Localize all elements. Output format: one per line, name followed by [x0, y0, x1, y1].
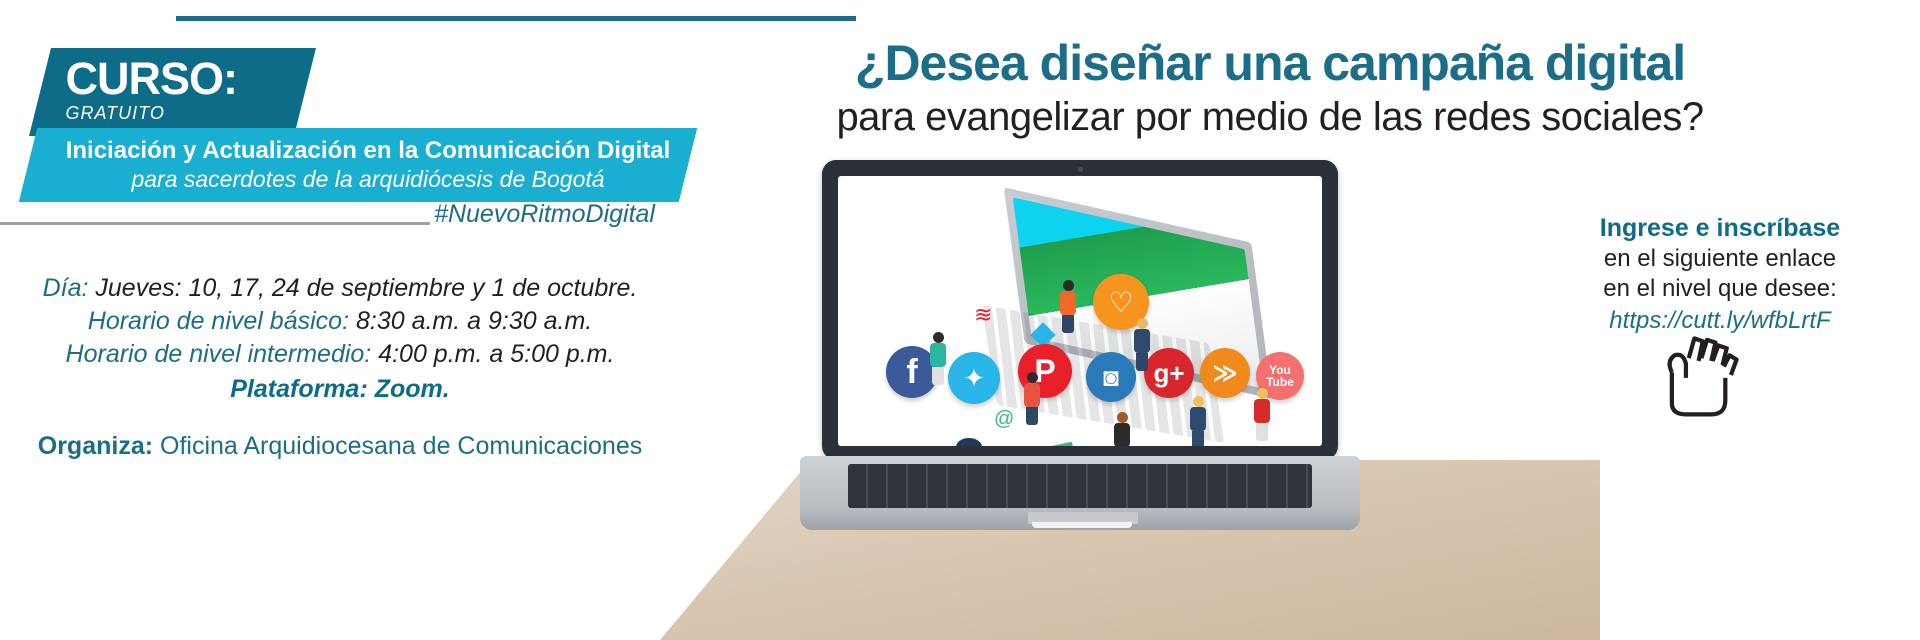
schedule-basic-line: Horario de nivel básico: 8:30 a.m. a 9:3…	[30, 305, 650, 338]
cta-line2: en el siguiente enlace	[1540, 244, 1900, 274]
schedule-platform: Plataforma: Zoom.	[30, 371, 650, 407]
registration-cta-block: Ingrese e inscríbase en el siguiente enl…	[1540, 212, 1900, 338]
laptop-notch	[1032, 522, 1132, 528]
person-figure	[1254, 388, 1270, 441]
headline-line2: para evangelizar por medio de las redes …	[700, 92, 1840, 142]
laptop-screen: ≋ @ ♡ f ✦ P ◙ g+ ≫ YouTube	[838, 176, 1322, 446]
schedule-intermediate-line: Horario de nivel intermedio: 4:00 p.m. a…	[30, 338, 650, 371]
course-title-line1: Iniciación y Actualización en la Comunic…	[66, 137, 671, 165]
curso-title: CURSO:	[65, 54, 306, 104]
schedule-intermediate-value: 4:00 p.m. a 5:00 p.m.	[378, 340, 614, 368]
laptop-keyboard	[848, 464, 1312, 508]
organizer-line: Organiza: Oficina Arquidiocesana de Comu…	[30, 430, 650, 462]
person-figure	[1190, 396, 1206, 446]
schedule-basic-value: 8:30 a.m. a 9:30 a.m.	[356, 307, 592, 335]
schedule-day-line: Día: Jueves: 10, 17, 24 de septiembre y …	[30, 272, 650, 305]
wifi-icon: ≋	[974, 302, 992, 328]
at-sign-icon: @	[994, 408, 1014, 431]
laptop-base	[800, 456, 1360, 530]
cta-line1: Ingrese e inscríbase	[1540, 212, 1900, 244]
laptop-lid: ≋ @ ♡ f ✦ P ◙ g+ ≫ YouTube	[822, 160, 1338, 460]
course-title-text: Iniciación y Actualización en la Comunic…	[28, 128, 708, 202]
schedule-intermediate-label: Horario de nivel intermedio:	[66, 340, 372, 368]
schedule-day-label: Día:	[43, 274, 89, 302]
googleplus-icon: g+	[1144, 348, 1194, 398]
isometric-scene: ≋ @ ♡ f ✦ P ◙ g+ ≫ YouTube	[838, 176, 1322, 446]
organizer-value: Oficina Arquidiocesana de Comunicaciones	[160, 432, 642, 460]
twitter-icon: ✦	[948, 352, 1000, 404]
curso-badge: CURSO: GRATUITO	[29, 48, 316, 136]
hashtag-label: #NuevoRitmoDigital	[430, 200, 655, 229]
curso-subtitle: GRATUITO	[65, 102, 306, 124]
person-figure	[1134, 318, 1150, 371]
headline-line1: ¿Desea diseñar una campaña digital	[700, 34, 1840, 92]
cloud-icon	[956, 438, 982, 446]
webcam-icon	[1078, 167, 1083, 172]
schedule-basic-label: Horario de nivel básico:	[88, 307, 349, 335]
schedule-block: Día: Jueves: 10, 17, 24 de septiembre y …	[30, 272, 650, 407]
cta-line3: en el nivel que desee:	[1540, 274, 1900, 304]
course-title-line2: para sacerdotes de la arquidiócesis de B…	[131, 165, 604, 193]
note-icon	[1048, 442, 1075, 446]
rss-icon: ≫	[1200, 348, 1250, 398]
person-figure	[1060, 280, 1076, 333]
schedule-day-value: Jueves: 10, 17, 24 de septiembre y 1 de …	[95, 274, 637, 302]
hashtag-divider-rule	[0, 222, 430, 225]
person-figure	[1114, 412, 1130, 446]
headline-block: ¿Desea diseñar una campaña digital para …	[700, 34, 1840, 142]
top-divider-rule	[176, 16, 856, 21]
instagram-icon: ◙	[1086, 352, 1136, 402]
promotional-banner: CURSO: GRATUITO Iniciación y Actualizaci…	[0, 0, 1920, 640]
laptop-illustration: ≋ @ ♡ f ✦ P ◙ g+ ≫ YouTube	[800, 160, 1360, 580]
pointing-hand-icon	[1655, 330, 1745, 420]
organizer-label: Organiza:	[38, 432, 153, 460]
person-figure	[1024, 372, 1040, 425]
person-figure	[930, 332, 946, 385]
